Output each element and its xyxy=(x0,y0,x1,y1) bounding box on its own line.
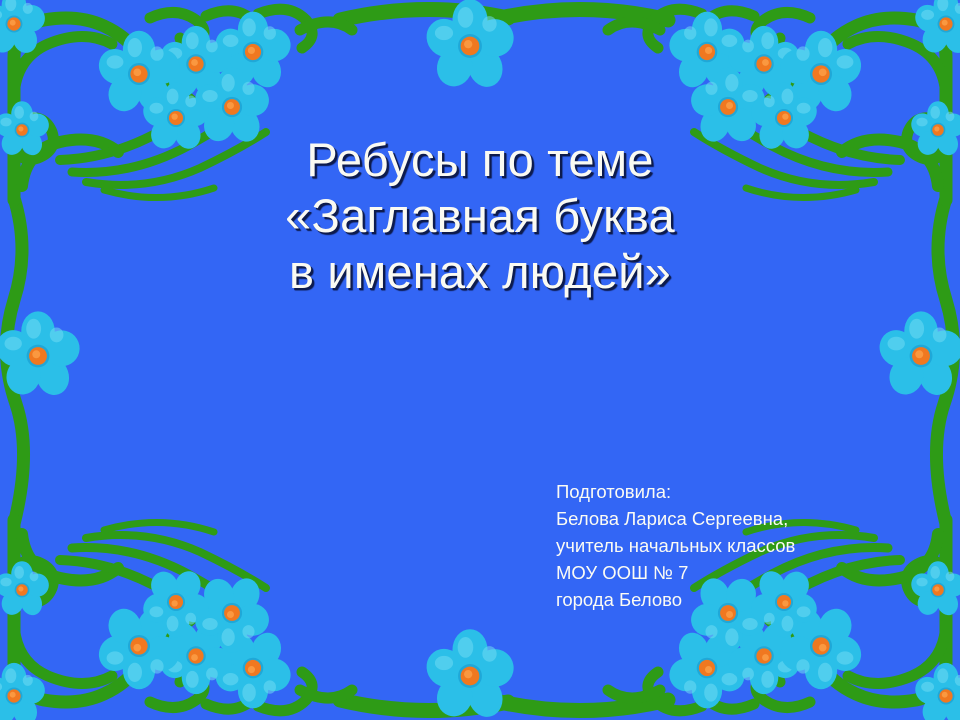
corner-bottom-left xyxy=(14,520,352,711)
slide-title: Ребусы по теме «Заглавная буква в именах… xyxy=(140,132,820,300)
title-line-3: в именах людей» xyxy=(140,244,820,300)
title-line-2: «Заглавная буква xyxy=(140,188,820,244)
author-line-school: МОУ ООШ № 7 xyxy=(556,559,896,586)
author-attribution: Подготовила: Белова Лариса Сергеевна, уч… xyxy=(556,478,896,613)
author-line-role: учитель начальных классов xyxy=(556,532,896,559)
author-line-name: Белова Лариса Сергеевна, xyxy=(556,505,896,532)
slide-canvas: Ребусы по теме «Заглавная буква в именах… xyxy=(0,0,960,720)
title-line-1: Ребусы по теме xyxy=(140,132,820,188)
author-line-prepared-by: Подготовила: xyxy=(556,478,896,505)
author-line-city: города Белово xyxy=(556,586,896,613)
